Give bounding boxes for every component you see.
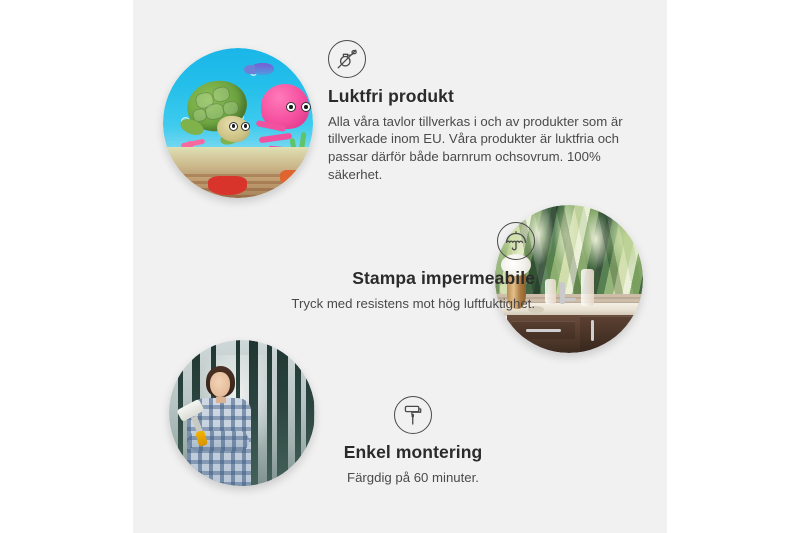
feature-title: Stampa impermeabile	[193, 268, 535, 290]
lotion-bottle-graphic	[545, 279, 555, 304]
feature-title: Enkel montering	[248, 442, 578, 464]
blue-fish-tail-graphic	[244, 65, 255, 74]
feature-odor-free: Luktfri produkt Alla våra tavlor tillver…	[328, 40, 628, 183]
sea-turtle-eye-graphic	[229, 122, 238, 131]
sea-turtle-eye-graphic	[241, 122, 250, 131]
umbrella-icon	[497, 222, 535, 260]
feature-waterproof-print: Stampa impermeabile Tryck med resistens …	[193, 222, 535, 312]
feature-panel: Luktfri produkt Alla våra tavlor tillver…	[133, 0, 667, 533]
photo-underwater-cartoon-mural	[163, 48, 313, 198]
feature-title: Luktfri produkt	[328, 86, 628, 108]
photo-underwater-inner	[163, 48, 313, 198]
feature-body: Färgdig på 60 minuter.	[248, 469, 578, 487]
screenshot-root: Luktfri produkt Alla våra tavlor tillver…	[0, 0, 800, 533]
wooden-vanity-cabinet-graphic	[507, 315, 643, 353]
octopus-eye-graphic	[286, 102, 296, 112]
octopus-eye-graphic	[301, 102, 311, 112]
feature-easy-installation: Enkel montering Färgdig på 60 minuter.	[248, 396, 578, 486]
paint-roller-icon	[394, 396, 432, 434]
lotion-bottle-graphic	[581, 269, 594, 306]
feature-body: Tryck med resistens mot hög luftfuktighe…	[193, 295, 535, 313]
red-sea-creature-graphic	[208, 176, 247, 196]
feature-body: Alla våra tavlor tillverkas i och av pro…	[328, 113, 628, 183]
red-sea-creature-graphic	[280, 170, 304, 187]
no-odor-icon	[328, 40, 366, 78]
woman-face-graphic	[210, 372, 230, 397]
faucet-spout-graphic	[560, 298, 576, 301]
